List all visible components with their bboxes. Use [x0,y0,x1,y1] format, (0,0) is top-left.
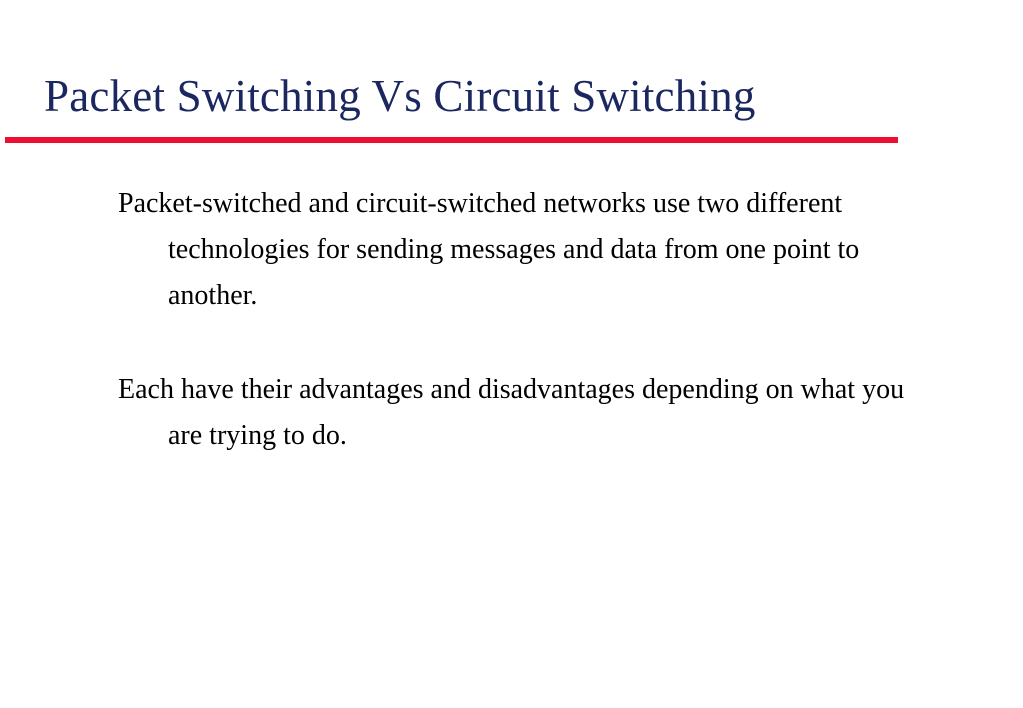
presentation-slide: Packet Switching Vs Circuit Switching Pa… [0,0,1023,708]
paragraph-spacer [118,319,908,367]
slide-body-block: Packet-switched and circuit-switched net… [118,181,908,459]
slide-title-block: Packet Switching Vs Circuit Switching [0,68,1023,146]
body-paragraph-1: Packet-switched and circuit-switched net… [118,181,928,319]
body-paragraph-2: Each have their advantages and disadvant… [118,367,928,459]
page-title: Packet Switching Vs Circuit Switching [44,68,984,124]
title-underline-rule [5,137,898,143]
